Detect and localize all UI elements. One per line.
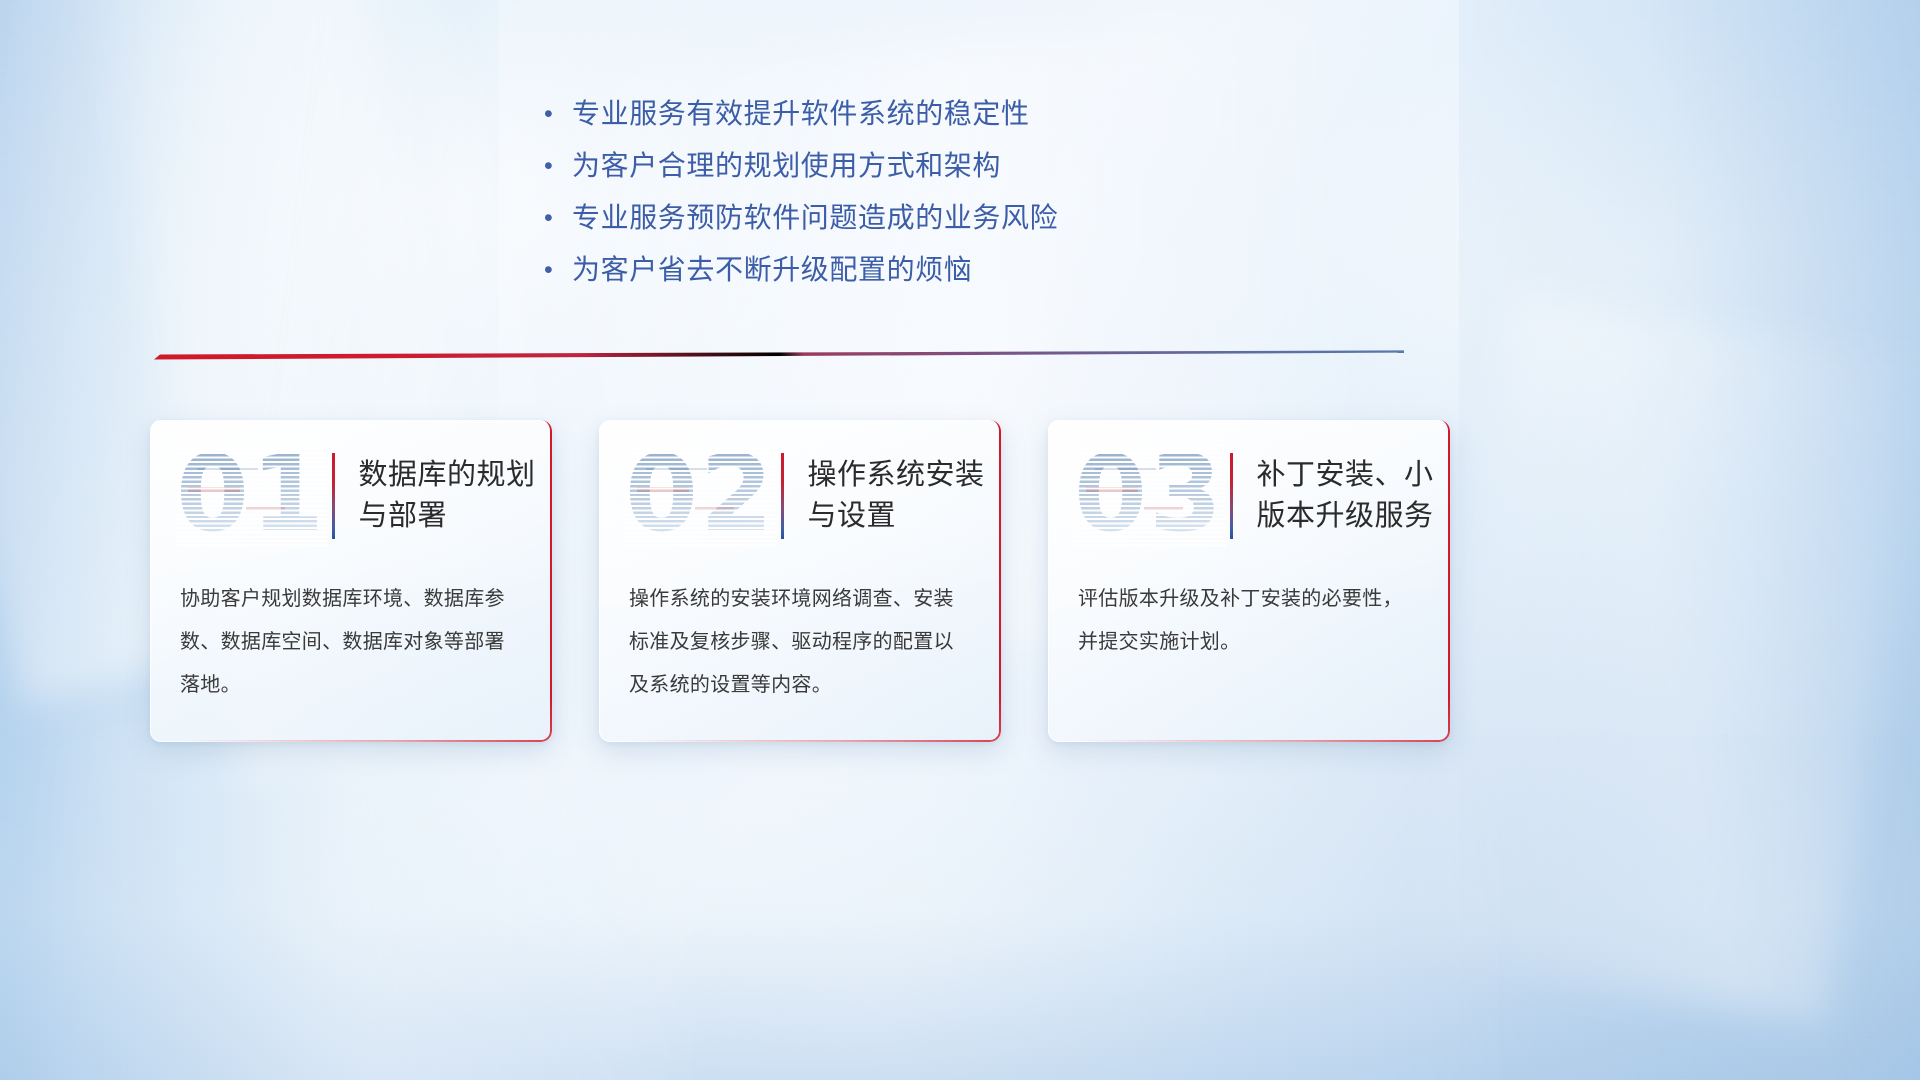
bullet-dot-icon: • [538, 192, 572, 244]
card-body-text: 评估版本升级及补丁安装的必要性，并提交实施计划。 [1048, 578, 1450, 664]
card-title: 补丁安装、小版本升级服务 [1257, 455, 1451, 537]
card-number-glyph: 03 [1074, 439, 1226, 549]
bullet-dot-icon: • [538, 140, 572, 192]
card-number: 03 [1074, 439, 1226, 549]
card-header: 02 操作系统安装与设置 [599, 420, 1001, 572]
list-item: • 专业服务有效提升软件系统的稳定性 [538, 88, 1298, 140]
card-number: 01 [176, 439, 328, 549]
service-card-list: 01 数据库的规划与部署 协助客户规划数据库环境、数据库参数、数据库空间、数据库… [150, 420, 1650, 750]
card-header: 03 补丁安装、小版本升级服务 [1048, 420, 1450, 572]
card-number-glyph: 01 [176, 439, 328, 549]
service-card[interactable]: 01 数据库的规划与部署 协助客户规划数据库环境、数据库参数、数据库空间、数据库… [150, 420, 552, 742]
bullet-text: 专业服务有效提升软件系统的稳定性 [572, 88, 1030, 140]
service-card[interactable]: 03 补丁安装、小版本升级服务 评估版本升级及补丁安装的必要性，并提交实施计划。 [1048, 420, 1450, 742]
card-divider-bar [1230, 453, 1233, 539]
service-card[interactable]: 02 操作系统安装与设置 操作系统的安装环境网络调查、安装标准及复核步骤、驱动程… [599, 420, 1001, 742]
card-number: 02 [625, 439, 777, 549]
card-number-glyph: 02 [625, 439, 777, 549]
card-divider-bar [781, 453, 784, 539]
list-item: • 专业服务预防软件问题造成的业务风险 [538, 192, 1298, 244]
card-body-text: 协助客户规划数据库环境、数据库参数、数据库空间、数据库对象等部署落地。 [150, 578, 552, 707]
divider-wedge-icon [154, 349, 1404, 363]
card-divider-bar [332, 453, 335, 539]
bullet-text: 为客户省去不断升级配置的烦恼 [572, 244, 972, 296]
bullet-dot-icon: • [538, 88, 572, 140]
list-item: • 为客户省去不断升级配置的烦恼 [538, 244, 1298, 296]
card-title: 数据库的规划与部署 [359, 455, 553, 537]
bullet-text: 专业服务预防软件问题造成的业务风险 [572, 192, 1058, 244]
card-title: 操作系统安装与设置 [808, 455, 1002, 537]
bullet-text: 为客户合理的规划使用方式和架构 [572, 140, 1001, 192]
card-header: 01 数据库的规划与部署 [150, 420, 552, 572]
list-item: • 为客户合理的规划使用方式和架构 [538, 140, 1298, 192]
section-divider [154, 349, 1404, 363]
bullet-dot-icon: • [538, 244, 572, 296]
benefits-bullet-list: • 专业服务有效提升软件系统的稳定性 • 为客户合理的规划使用方式和架构 • 专… [538, 88, 1298, 296]
card-body-text: 操作系统的安装环境网络调查、安装标准及复核步骤、驱动程序的配置以及系统的设置等内… [599, 578, 1001, 707]
